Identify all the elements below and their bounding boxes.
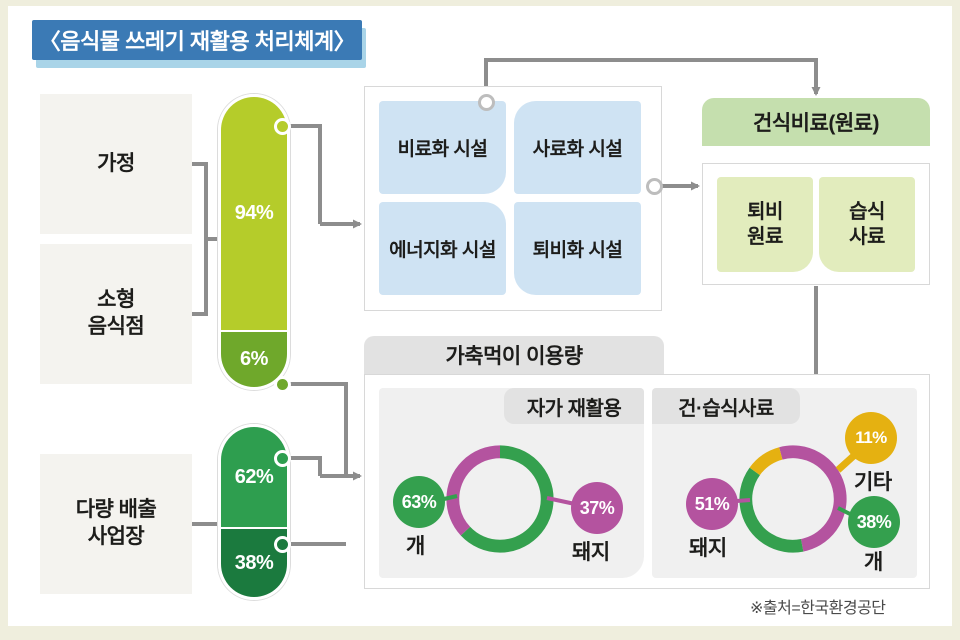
facility-box-feed: 사료화 시설 [514,101,641,194]
donut-bubble-dog-feed: 38% [848,496,900,548]
livestock-header-label: 가축먹이 이용량 [445,340,582,370]
fertilizer-label-wet-feed: 습식사료 [849,200,885,250]
node-dot-94 [274,118,291,135]
bar-value-94: 94% [235,202,274,225]
donut-bubble-other-feed: 11% [845,412,897,464]
source-label-household: 가정 [97,151,135,178]
donut-bubble-dog-self: 63% [393,476,445,528]
source-box-restaurant: 소형음식점 [40,244,192,384]
bar-value-38: 38% [235,552,274,575]
facility-box-composting: 비료화 시설 [379,101,506,194]
facility-box-energy: 에너지화 시설 [379,202,506,295]
donut-card-self-recycle: 자가 재활용 63% 개 37 [379,388,644,578]
donut-value-dog-feed: 38% [857,512,892,533]
livestock-header: 가축먹이 이용량 [364,336,664,374]
facility-label-manure: 퇴비화 시설 [533,235,623,262]
source-note-text: ※출처=한국환경공단 [750,600,886,617]
donut-caption-dog-feed: 개 [864,546,883,576]
donut-bubble-pig-feed: 51% [686,478,738,530]
bar-value-6: 6% [240,348,268,371]
node-dot-composting [478,94,495,111]
fertilizer-panel: 퇴비원료 습식사료 [702,163,930,285]
node-dot-38 [274,536,291,553]
bar-value-62: 62% [235,466,274,489]
donut-caption-pig-self: 돼지 [572,536,610,566]
infographic-canvas: 〈음식물 쓰레기 재활용 처리체계〉 [8,6,952,626]
facility-box-manure: 퇴비화 시설 [514,202,641,295]
donut-value-pig-self: 37% [580,498,615,519]
facility-label-energy: 에너지화 시설 [389,235,496,262]
donut-caption-other-feed: 기타 [854,466,892,496]
facility-label-composting: 비료화 시설 [398,134,488,161]
fertilizer-box-wet-feed: 습식사료 [819,177,915,272]
node-dot-6 [274,376,291,393]
source-label-restaurant: 소형음식점 [88,287,144,341]
fertilizer-box-manure-material: 퇴비원료 [717,177,813,272]
livestock-panel: 자가 재활용 63% 개 37 [364,374,930,589]
donut-value-dog-self: 63% [402,492,437,513]
donut-value-pig-feed: 51% [695,494,730,515]
source-note: ※출처=한국환경공단 [750,594,886,618]
facility-panel: 비료화 시설 사료화 시설 에너지화 시설 퇴비화 시설 [364,86,662,311]
bar-household: 94% 6% [218,94,290,390]
donut-value-other-feed: 11% [855,428,887,448]
page-title: 〈음식물 쓰레기 재활용 처리체계〉 [32,20,362,60]
donut-card-dry-wet-feed: 건·습식사료 51% 돼지 [652,388,917,578]
fertilizer-header-label: 건식비료(원료) [753,107,879,137]
page-title-text: 〈음식물 쓰레기 재활용 처리체계〉 [39,24,355,56]
fertilizer-label-manure-material: 퇴비원료 [747,200,783,250]
donut-bubble-pig-self: 37% [571,482,623,534]
source-label-business: 다량 배출사업장 [76,497,157,551]
fertilizer-header: 건식비료(원료) [702,98,930,146]
bar-segment-62: 62% [221,427,287,529]
node-dot-62 [274,450,291,467]
source-box-business: 다량 배출사업장 [40,454,192,594]
donut-caption-pig-feed: 돼지 [689,532,727,562]
facility-label-feed: 사료화 시설 [533,134,623,161]
source-box-household: 가정 [40,94,192,234]
donut-caption-dog-self: 개 [406,530,425,560]
node-dot-feed [646,178,663,195]
